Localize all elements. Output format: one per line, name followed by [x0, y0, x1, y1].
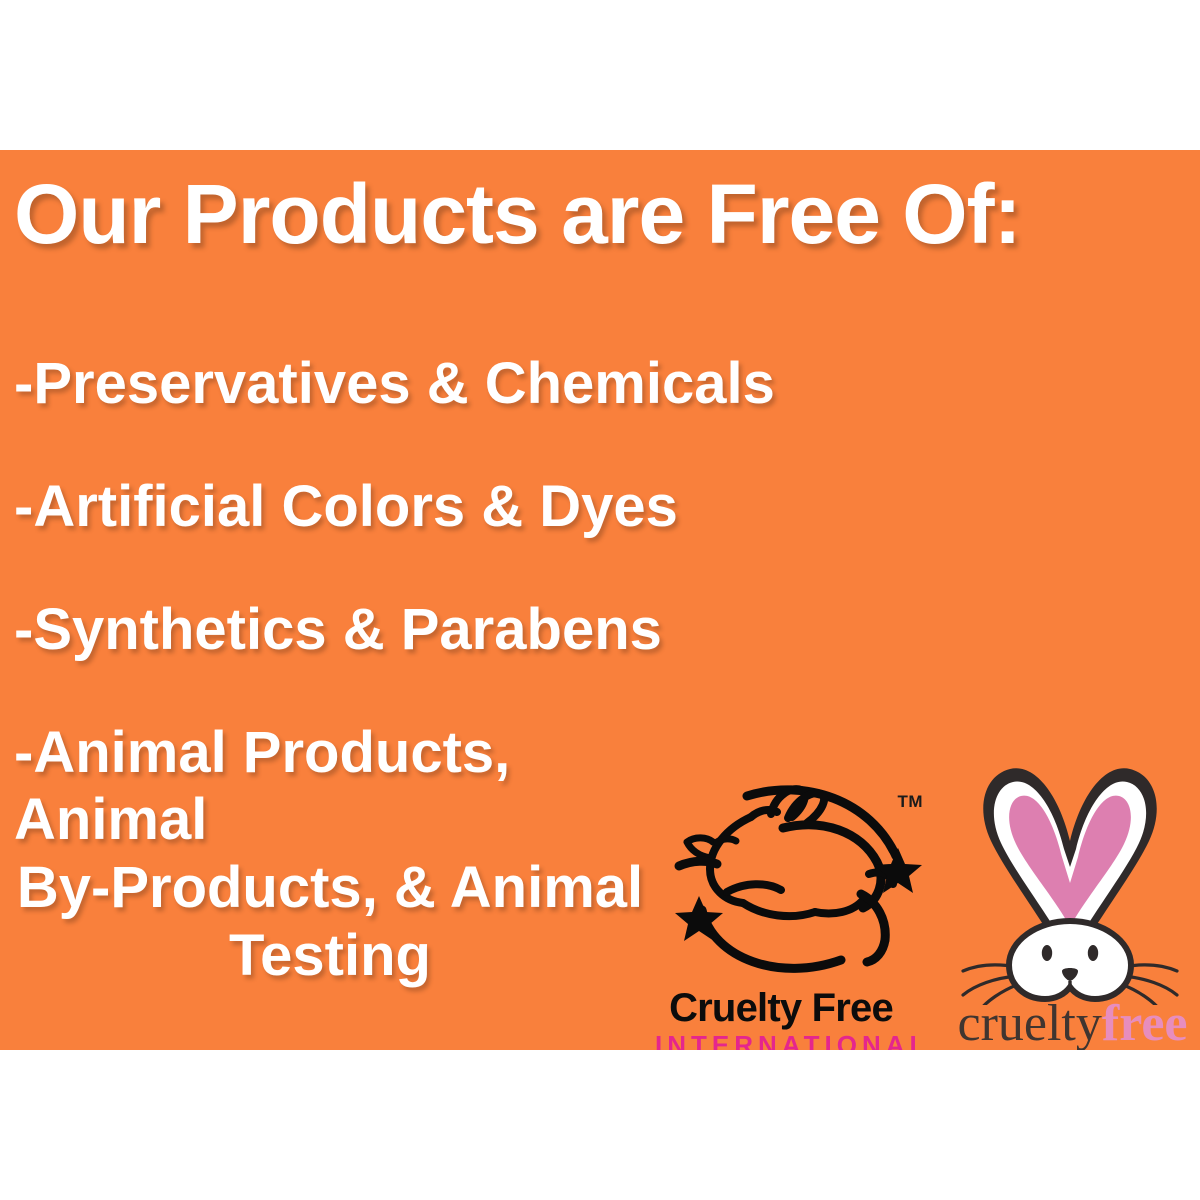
wordmark-part-one: cruelty: [958, 995, 1102, 1050]
trademark-symbol: TM: [897, 792, 923, 812]
list-item: -Artificial Colors & Dyes: [0, 473, 700, 541]
free-of-list: -Preservatives & Chemicals -Artificial C…: [0, 350, 700, 990]
cruelty-free-wordmark: crueltyfree: [930, 998, 1200, 1050]
cruelty-free-international-logo: TM Cruelty Free INTERNATIONAL: [655, 770, 925, 1050]
orange-banner: Our Products are Free Of: -Preservatives…: [0, 150, 1200, 1050]
bunny-face: [1009, 921, 1131, 999]
cruelty-free-international-wordmark: Cruelty Free INTERNATIONAL: [655, 988, 907, 1050]
page-title: Our Products are Free Of:: [14, 172, 1021, 256]
logo-sub-label: INTERNATIONAL: [655, 1031, 907, 1050]
list-item-line: Testing: [0, 922, 660, 990]
eye-left: [1042, 945, 1052, 961]
eye-right: [1088, 945, 1098, 961]
list-item-line: -Animal Products, Animal: [0, 719, 660, 855]
cruelty-free-bunny-logo: crueltyfree: [955, 755, 1200, 1050]
list-item: -Preservatives & Chemicals: [0, 350, 700, 418]
poster: Our Products are Free Of: -Preservatives…: [0, 0, 1200, 1200]
leaping-rabbit-icon: [655, 770, 925, 985]
bunny-heart-ears-icon: [955, 755, 1185, 1005]
list-item: -Synthetics & Parabens: [0, 596, 700, 664]
wordmark-part-two: free: [1102, 995, 1188, 1050]
list-item-line: By-Products, & Animal: [0, 854, 660, 922]
list-item: -Animal Products, Animal By-Products, & …: [0, 719, 660, 990]
logo-name-label: Cruelty Free: [655, 988, 907, 1029]
